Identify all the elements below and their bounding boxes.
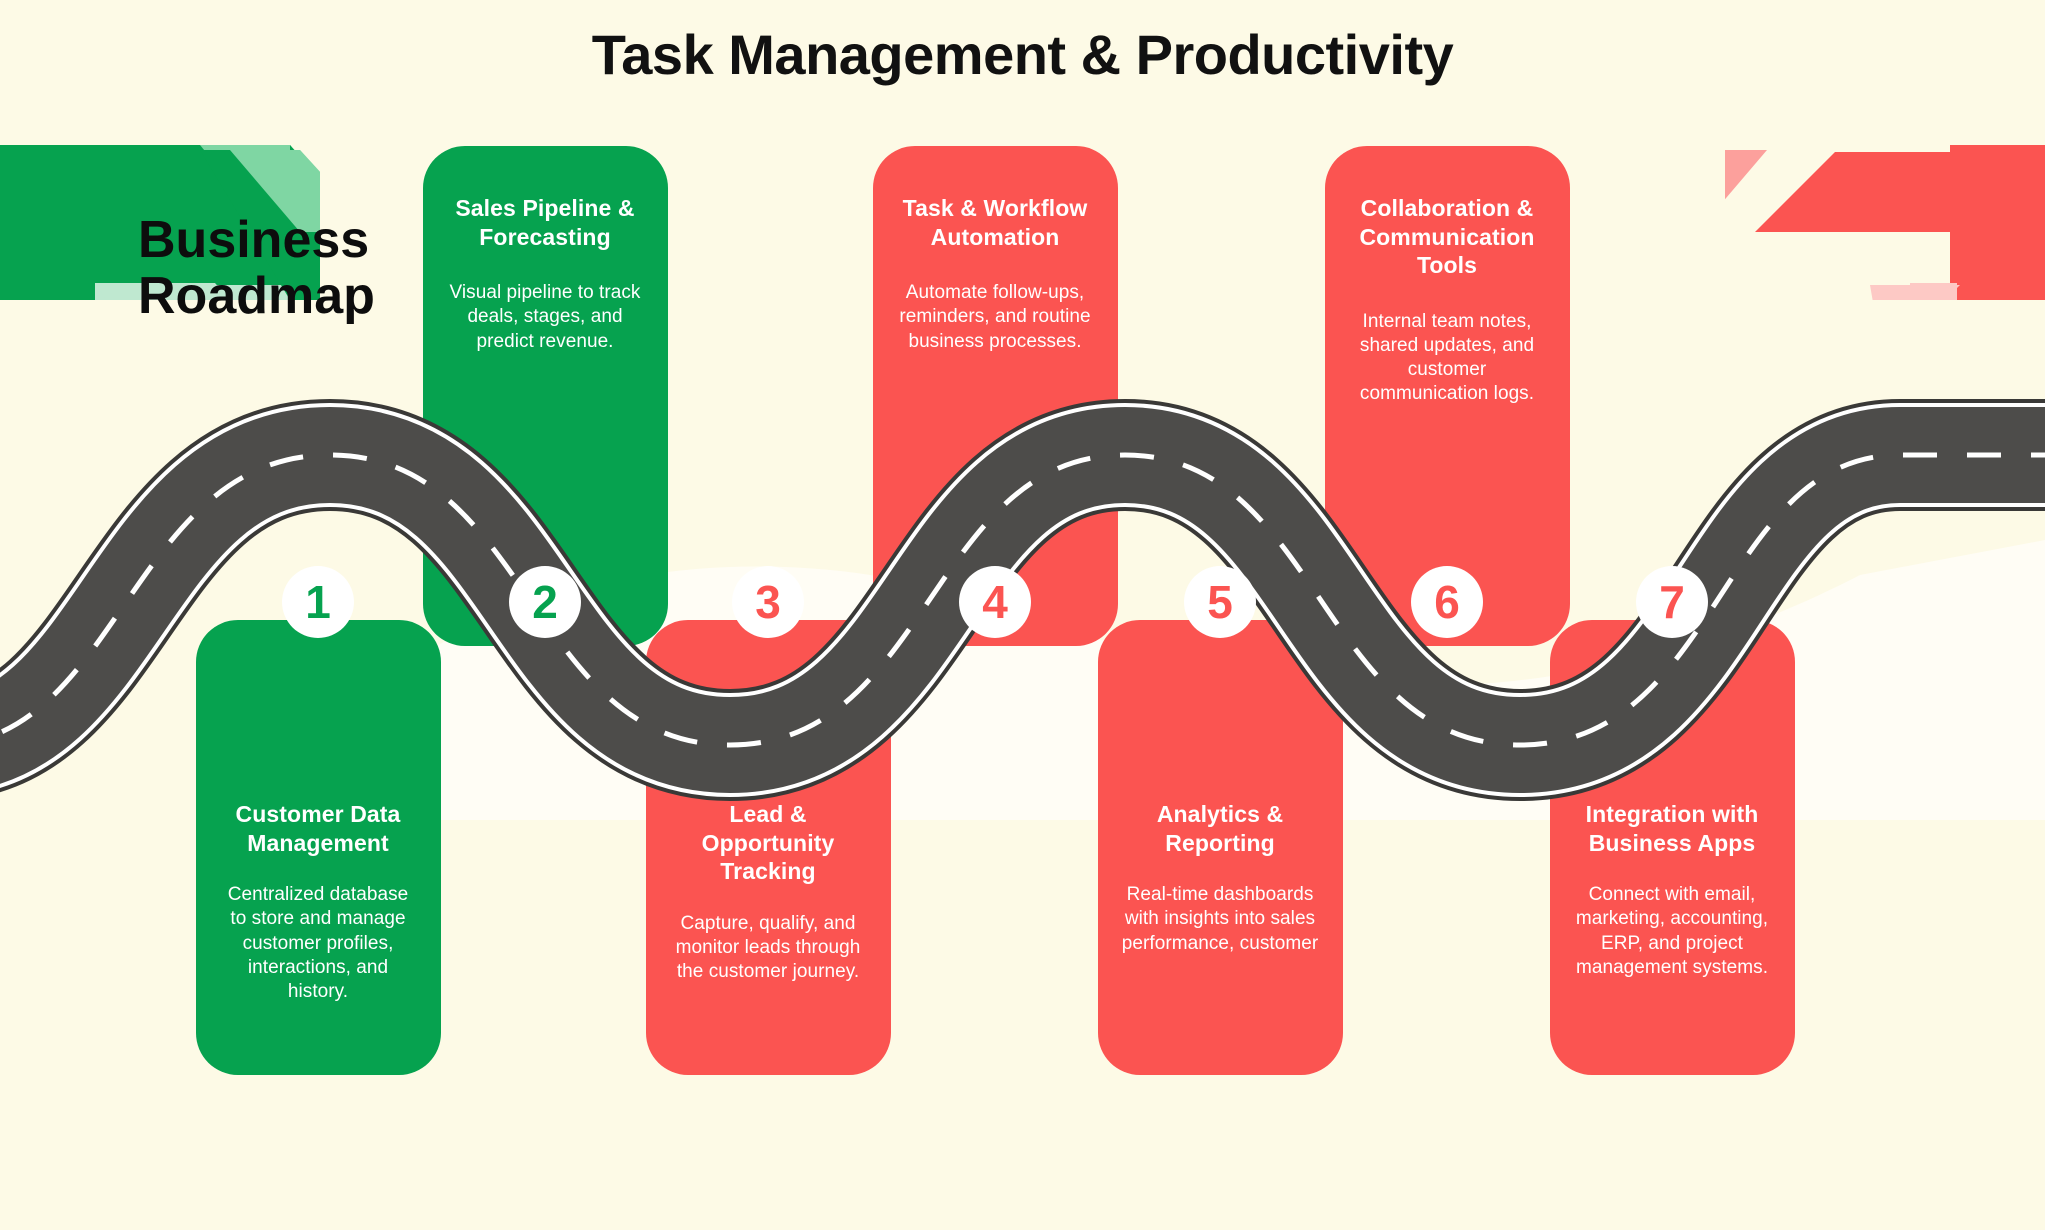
roadmap-heading-line-2: Roadmap (138, 268, 468, 324)
roadmap-card-7[interactable]: Integration with Business AppsConnect wi… (1550, 620, 1795, 1075)
card-description: Visual pipeline to track deals, stages, … (445, 281, 646, 354)
step-number: 5 (1207, 579, 1233, 625)
card-description: Connect with email, marketing, accountin… (1572, 883, 1773, 980)
card-title: Lead & Opportunity Tracking (668, 800, 869, 886)
roadmap-heading: Business Roadmap (138, 212, 468, 324)
step-number: 2 (532, 579, 558, 625)
step-marker-7[interactable]: 7 (1636, 566, 1708, 638)
step-number: 4 (982, 579, 1008, 625)
card-description: Real-time dashboards with insights into … (1120, 883, 1321, 956)
step-number: 1 (305, 579, 331, 625)
card-title: Analytics & Reporting (1120, 800, 1321, 857)
step-marker-1[interactable]: 1 (282, 566, 354, 638)
step-number: 6 (1434, 579, 1460, 625)
card-description: Capture, qualify, and monitor leads thro… (668, 912, 869, 985)
step-number: 3 (755, 579, 781, 625)
card-title: Collaboration & Communication Tools (1347, 194, 1548, 280)
step-marker-5[interactable]: 5 (1184, 566, 1256, 638)
roadmap-card-1[interactable]: Customer Data ManagementCentralized data… (196, 620, 441, 1075)
card-title: Task & Workflow Automation (895, 194, 1096, 251)
step-number: 7 (1659, 579, 1685, 625)
step-marker-4[interactable]: 4 (959, 566, 1031, 638)
card-title: Integration with Business Apps (1572, 800, 1773, 857)
roadmap-card-3[interactable]: Lead & Opportunity TrackingCapture, qual… (646, 620, 891, 1075)
infographic-canvas: Task Management & Productivity Business … (0, 0, 2045, 1230)
roadmap-heading-line-1: Business (138, 212, 468, 268)
roadmap-card-5[interactable]: Analytics & ReportingReal-time dashboard… (1098, 620, 1343, 1075)
card-title: Customer Data Management (218, 800, 419, 857)
card-title: Sales Pipeline & Forecasting (445, 194, 646, 251)
card-description: Centralized database to store and manage… (218, 883, 419, 1005)
step-marker-3[interactable]: 3 (732, 566, 804, 638)
step-marker-6[interactable]: 6 (1411, 566, 1483, 638)
card-description: Automate follow-ups, reminders, and rout… (895, 281, 1096, 354)
step-marker-2[interactable]: 2 (509, 566, 581, 638)
page-title: Task Management & Productivity (0, 22, 2045, 87)
card-description: Internal team notes, shared updates, and… (1347, 310, 1548, 407)
